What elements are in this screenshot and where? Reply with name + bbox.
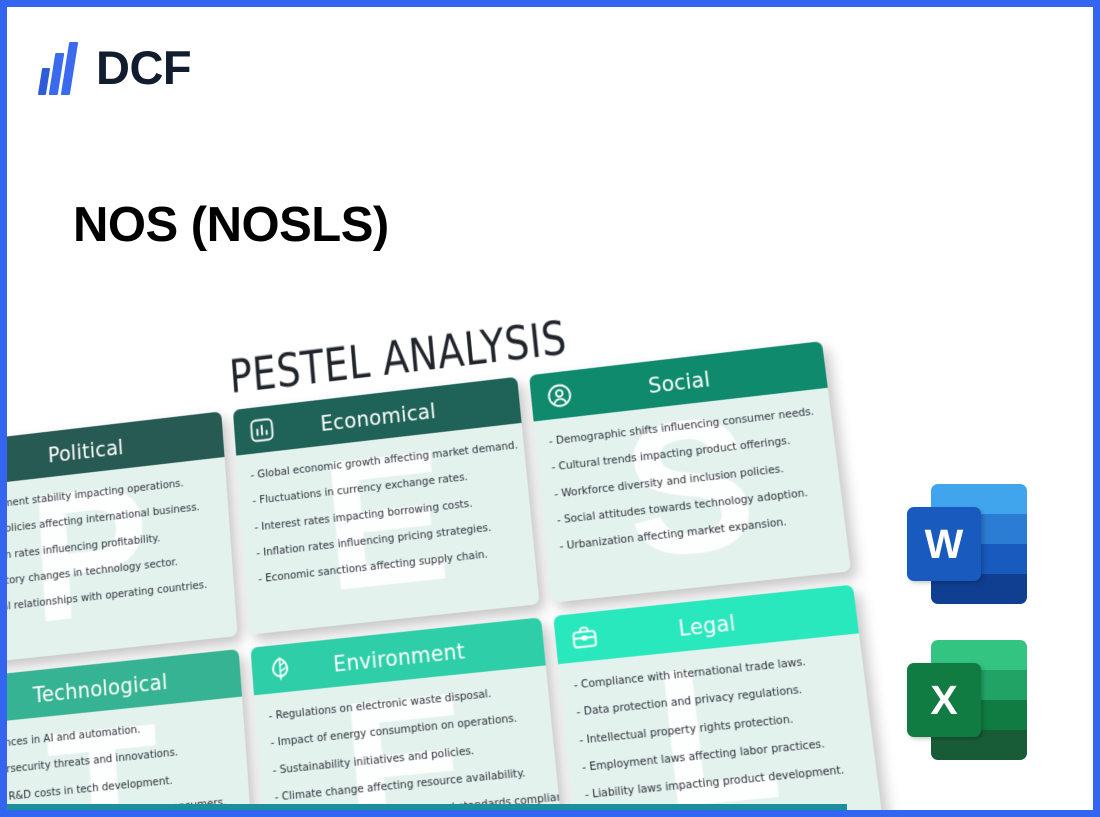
card-header: Legal xyxy=(553,585,859,665)
list-item: Employment laws affecting labor practice… xyxy=(582,735,860,773)
brand-name: DCF xyxy=(96,44,191,91)
pestel-card-economical: Economical E Global economic growth affe… xyxy=(233,377,540,635)
card-bullet-list: Regulations on electronic waste disposal… xyxy=(268,684,546,817)
dcf-logo[interactable]: DCF xyxy=(40,40,191,95)
list-item: Sustainability initiatives and policies. xyxy=(272,739,540,776)
pestel-card-legal: Legal L Compliance with international tr… xyxy=(553,585,883,817)
pestel-analysis-graphic: PESTEL ANALYSIS Political P xyxy=(0,327,877,817)
card-watermark: E xyxy=(336,665,479,817)
list-item: Liability laws impacting product develop… xyxy=(584,763,862,800)
leaf-icon xyxy=(265,653,295,684)
card-bullet-list: Advances in AI and automation. Cybersecu… xyxy=(0,715,237,817)
page-title: NOS (NOSLS) xyxy=(73,199,389,253)
list-item: Intellectual property rights protection. xyxy=(579,708,856,746)
list-item: Political relationships with operating c… xyxy=(0,579,221,617)
list-item: Advances in AI and automation. xyxy=(0,715,231,752)
excel-letter-tile: X xyxy=(907,663,981,737)
list-item: High R&D costs in tech development. xyxy=(0,769,235,805)
list-item: Data protection and privacy regulations. xyxy=(576,680,852,718)
card-title: Environment xyxy=(293,629,530,680)
card-title: Legal xyxy=(597,597,842,649)
card-watermark: L xyxy=(648,633,789,817)
card-body: E Regulations on electronic waste dispos… xyxy=(254,665,565,817)
list-item: Cybersecurity threats and innovations. xyxy=(0,742,233,778)
list-item: Workforce diversity and inclusion polici… xyxy=(554,459,825,499)
pestel-card-environment: Environment E Regulations on electronic … xyxy=(250,617,564,817)
list-item: Compliance with international trade laws… xyxy=(573,652,849,690)
card-bullet-list: Compliance with international trade laws… xyxy=(573,652,863,800)
card-bullet-list: Global economic growth affecting market … xyxy=(250,441,521,585)
list-item: Climate change affecting resource availa… xyxy=(274,766,543,803)
card-bullet-list: Government stability impacting operation… xyxy=(0,475,221,616)
card-body: E Global economic growth affecting marke… xyxy=(236,423,539,635)
list-item: Regulations on electronic waste disposal… xyxy=(268,684,535,722)
bottom-accent-strip xyxy=(7,804,847,810)
microsoft-word-icon[interactable]: W xyxy=(907,484,1027,604)
bar-chart-icon xyxy=(247,414,276,444)
pestel-card-political: Political P Government stability impacti… xyxy=(0,411,238,665)
list-item: Impact of energy consumption on operatio… xyxy=(270,711,538,748)
briefcase-icon xyxy=(569,621,601,653)
card-header: Social xyxy=(529,341,828,421)
person-icon xyxy=(544,380,575,411)
card-bullet-list: Demographic shifts influencing consumer … xyxy=(548,406,831,552)
card-body: L Compliance with international trade la… xyxy=(558,633,883,817)
page-frame: DCF NOS (NOSLS) PESTEL ANALYSIS Politica… xyxy=(0,0,1100,817)
card-watermark: S xyxy=(616,388,764,588)
card-body: S Demographic shifts influencing consume… xyxy=(534,388,851,603)
list-item: Urbanization affecting market expansion. xyxy=(559,512,831,552)
card-body: P Government stability impacting operati… xyxy=(0,457,238,666)
pestel-card-technological: Technological T Advances in AI and autom… xyxy=(0,649,256,817)
card-title: Social xyxy=(572,353,812,407)
pestel-card-social: Social S Demographic shifts influencing … xyxy=(529,341,851,603)
list-item: Social attitudes towards technology adop… xyxy=(556,486,827,526)
word-letter-tile: W xyxy=(907,507,981,581)
microsoft-excel-icon[interactable]: X xyxy=(907,640,1027,760)
pestel-card-grid: Political P Government stability impacti… xyxy=(0,336,929,817)
dcf-bars-logo-icon xyxy=(40,40,82,95)
